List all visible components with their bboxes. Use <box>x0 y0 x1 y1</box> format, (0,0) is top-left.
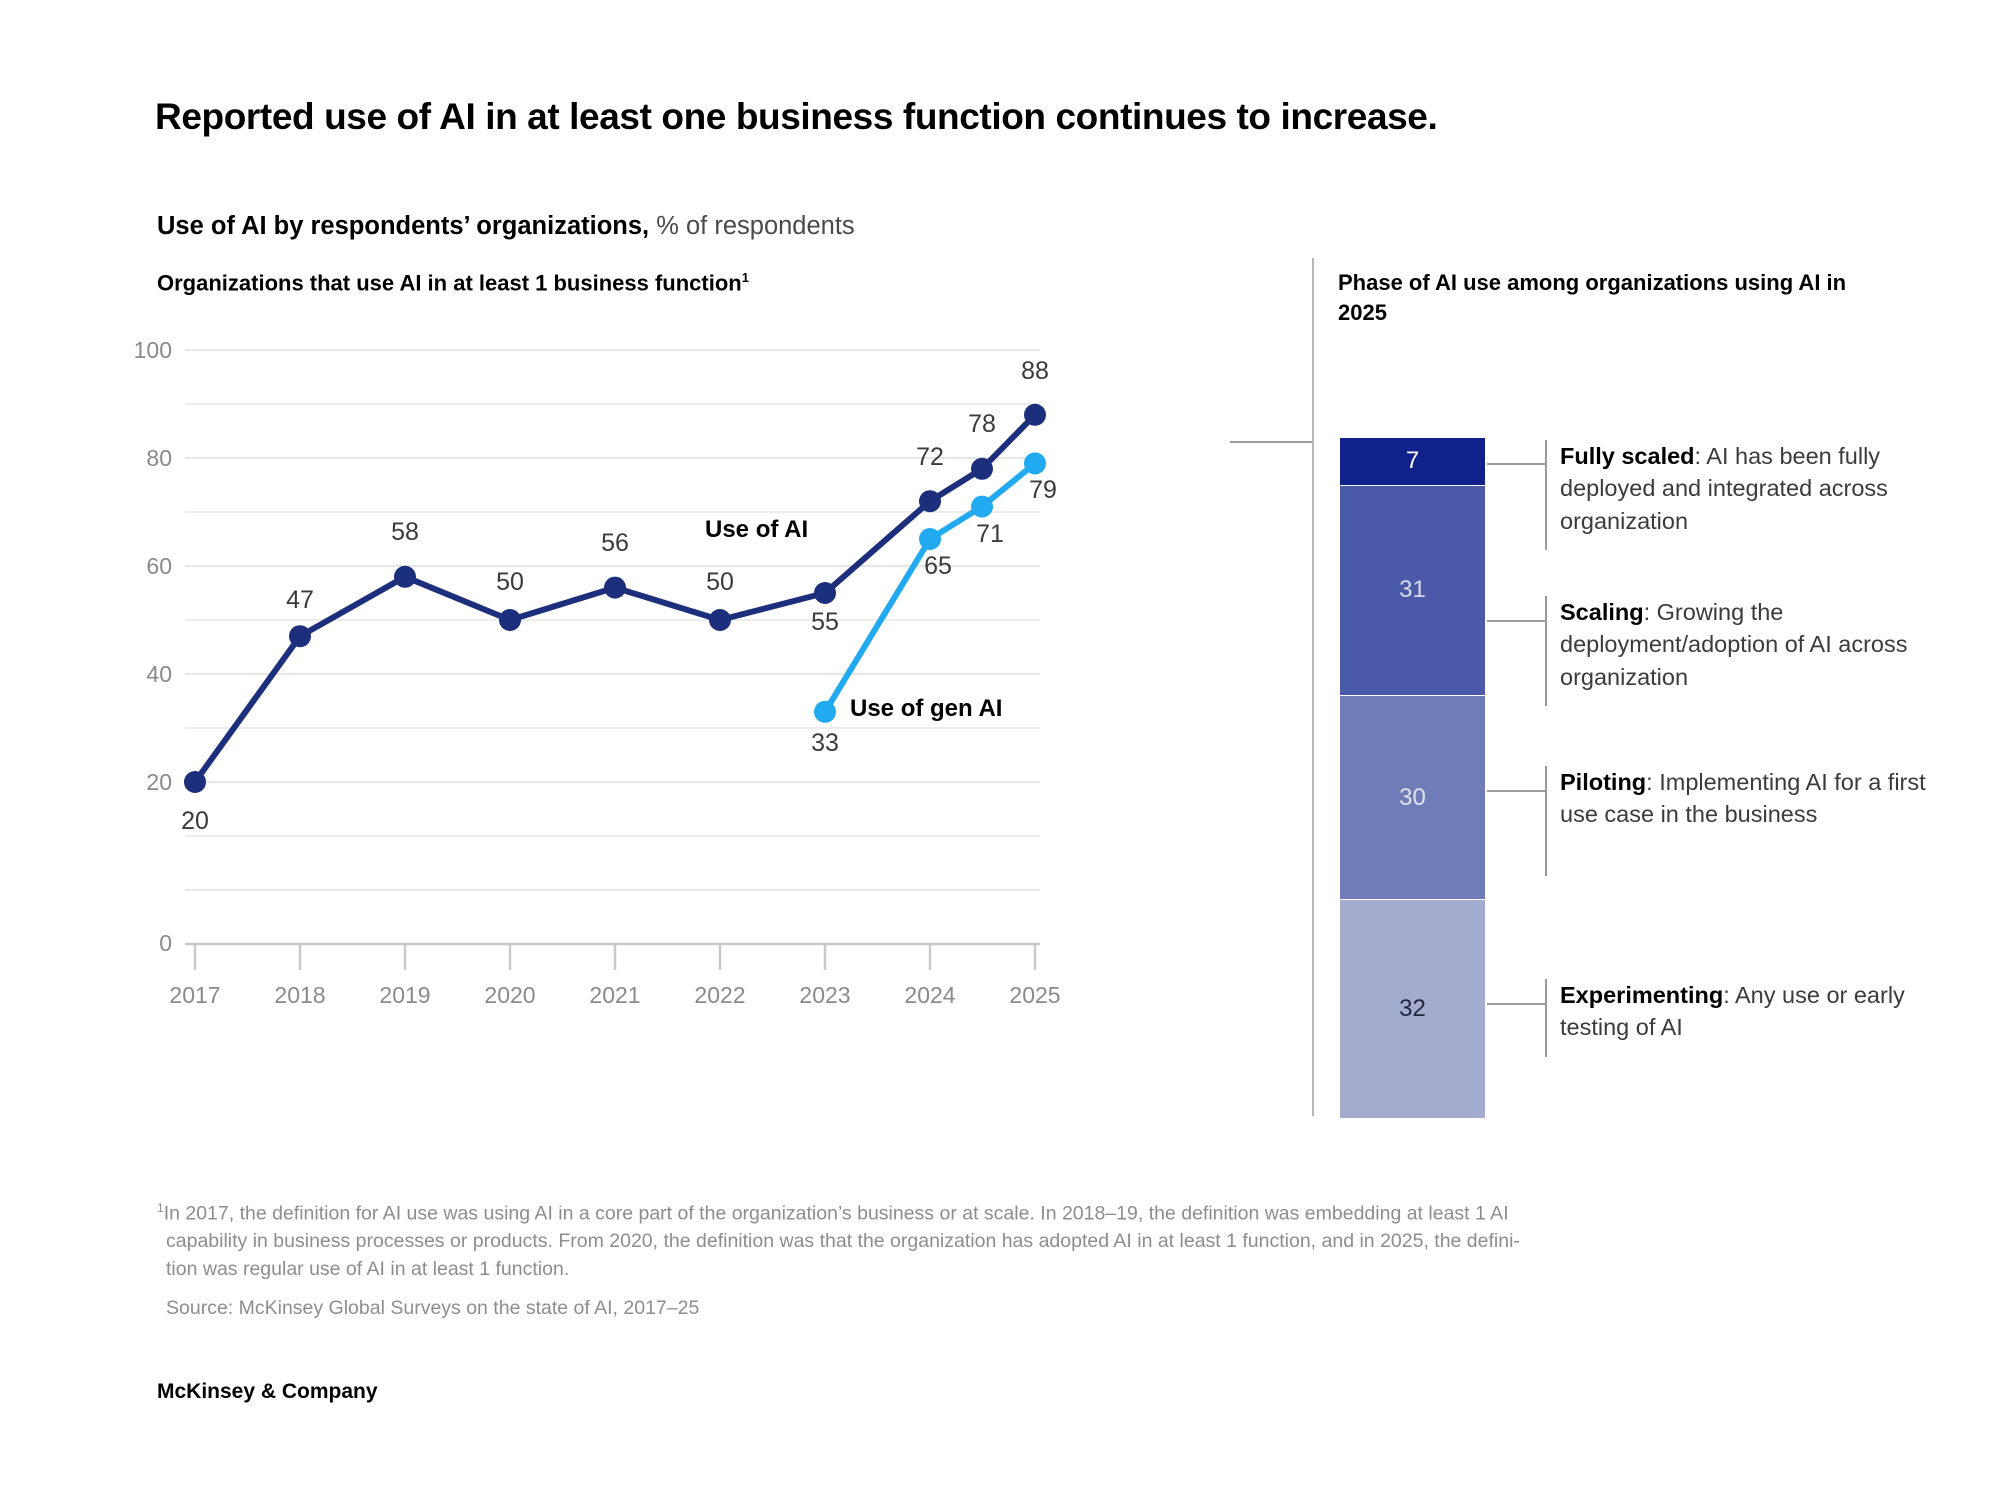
callout-name-scaling: Scaling <box>1560 599 1644 625</box>
leader-line-to-right-panel <box>1230 441 1312 443</box>
callout-colon-experimenting: : <box>1723 982 1735 1008</box>
chart-subtitle-strong: Use of AI by respondents’ organizations, <box>157 212 649 240</box>
chart-page: Reported use of AI in at least one busin… <box>0 0 2000 1500</box>
point-label-ai-2024: 72 <box>890 443 970 472</box>
x-tick-2025: 2025 <box>980 982 1090 1009</box>
stack-segment-piloting: 30 <box>1340 696 1485 900</box>
x-tick-2023: 2023 <box>770 982 880 1009</box>
point-label-ai-2024h: 78 <box>942 410 1022 439</box>
stack-segment-value-experimenting: 32 <box>1399 995 1426 1023</box>
callout-name-fully-scaled: Fully scaled <box>1560 443 1695 469</box>
point-label-ai-2020: 50 <box>470 568 550 597</box>
point-label-genai-2024: 65 <box>898 552 978 581</box>
footnote: 1In 2017, the definition for AI use was … <box>157 1200 1867 1284</box>
point-label-ai-2021: 56 <box>575 529 655 558</box>
x-tick-2017: 2017 <box>140 982 250 1009</box>
point-label-ai-2022: 50 <box>680 568 760 597</box>
stack-segment-value-piloting: 30 <box>1399 784 1426 812</box>
y-tick-60: 60 <box>102 553 172 580</box>
callout-line-piloting <box>1487 790 1545 792</box>
point-label-ai-2023: 55 <box>785 608 865 637</box>
callout-text-scaling: Scaling: Growing the deployment/adoption… <box>1560 596 1960 693</box>
callout-line-experimenting <box>1487 1003 1545 1005</box>
source-note: Source: McKinsey Global Surveys on the s… <box>166 1297 699 1320</box>
callout-colon-piloting: : <box>1646 769 1659 795</box>
line-chart: 100 80 60 40 20 0 2017 2018 2019 2020 20… <box>150 320 1310 1160</box>
left-panel-heading-footnote-marker: 1 <box>742 270 749 285</box>
callout-text-experimenting: Experimenting: Any use or early testing … <box>1560 979 1960 1044</box>
stack-segment-value-fully-scaled: 7 <box>1406 447 1419 475</box>
callout-bracket-fully-scaled <box>1545 440 1547 550</box>
point-label-genai-2025: 79 <box>1003 476 1083 505</box>
stacked-bar-chart: 7 31 30 32 <box>1340 438 1485 1118</box>
x-tick-2020: 2020 <box>455 982 565 1009</box>
x-tick-2024: 2024 <box>875 982 985 1009</box>
callout-text-piloting: Piloting: Implementing AI for a first us… <box>1560 766 1960 831</box>
callout-bracket-scaling <box>1545 596 1547 706</box>
stack-segment-fully-scaled: 7 <box>1340 438 1485 486</box>
x-tick-2022: 2022 <box>665 982 775 1009</box>
x-tick-2018: 2018 <box>245 982 355 1009</box>
footnote-line-1: In 2017, the definition for AI use was u… <box>164 1203 1509 1225</box>
x-axis <box>185 944 1040 970</box>
callout-bracket-experimenting <box>1545 979 1547 1057</box>
x-tick-2019: 2019 <box>350 982 460 1009</box>
callout-colon-scaling: : <box>1644 599 1657 625</box>
stack-segment-value-scaling: 31 <box>1399 576 1426 604</box>
point-label-ai-2018: 47 <box>260 586 340 615</box>
panel-divider <box>1312 258 1314 1116</box>
callout-line-fully-scaled <box>1487 463 1545 465</box>
y-tick-0: 0 <box>102 930 172 957</box>
stack-segment-scaling: 31 <box>1340 486 1485 697</box>
x-tick-2021: 2021 <box>560 982 670 1009</box>
chart-subtitle: Use of AI by respondents’ organizations,… <box>157 212 855 241</box>
point-label-ai-2025: 88 <box>995 357 1075 386</box>
footnote-line-2: capability in business processes or prod… <box>157 1228 1867 1256</box>
callout-bracket-piloting <box>1545 766 1547 876</box>
callout-colon-fully-scaled: : <box>1695 443 1707 469</box>
stack-segment-experimenting: 32 <box>1340 900 1485 1118</box>
series-label-use-of-ai: Use of AI <box>705 516 808 544</box>
chart-subtitle-rest: % of respondents <box>649 212 855 240</box>
point-label-genai-2024h: 71 <box>950 520 1030 549</box>
left-panel-heading: Organizations that use AI in at least 1 … <box>157 270 749 296</box>
series-label-use-of-gen-ai: Use of gen AI <box>850 695 1002 723</box>
point-label-ai-2019: 58 <box>365 518 445 547</box>
right-panel-heading: Phase of AI use among organizations usin… <box>1338 268 1898 328</box>
y-tick-40: 40 <box>102 661 172 688</box>
page-title: Reported use of AI in at least one busin… <box>155 96 1437 138</box>
footnote-line-3: tion was regular use of AI in at least 1… <box>157 1256 1867 1284</box>
y-tick-100: 100 <box>102 337 172 364</box>
callout-name-piloting: Piloting <box>1560 769 1646 795</box>
brand-logo: McKinsey & Company <box>157 1380 378 1404</box>
line-chart-svg <box>150 320 1310 1160</box>
point-label-genai-2023: 33 <box>785 729 865 758</box>
footnote-marker: 1 <box>157 1201 164 1215</box>
callout-text-fully-scaled: Fully scaled: AI has been fully deployed… <box>1560 440 1960 537</box>
left-panel-heading-text: Organizations that use AI in at least 1 … <box>157 270 742 295</box>
callout-line-scaling <box>1487 620 1545 622</box>
y-tick-20: 20 <box>102 769 172 796</box>
y-tick-80: 80 <box>102 445 172 472</box>
point-label-ai-2017: 20 <box>155 807 235 836</box>
callout-name-experimenting: Experimenting <box>1560 982 1723 1008</box>
